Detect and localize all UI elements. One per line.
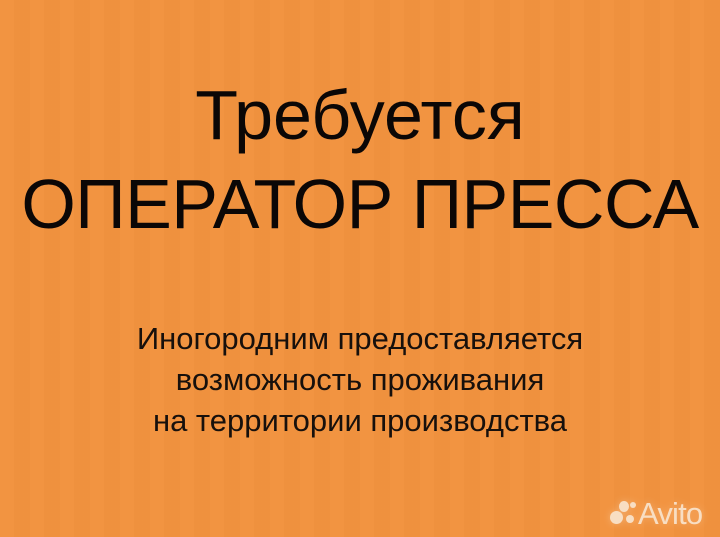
avito-circle-medium xyxy=(619,501,629,512)
avito-wordmark: Avito xyxy=(638,498,702,529)
subtitle-line-1: Иногородним предоставляется xyxy=(0,318,720,359)
avito-circles-icon xyxy=(610,500,636,526)
avito-circle-small-bottom xyxy=(626,515,634,523)
headline-line-1: Требуется xyxy=(0,80,720,150)
subtitle-line-3: на территории производства xyxy=(0,400,720,441)
advertisement-image: Требуется ОПЕРАТОР ПРЕССА Иногородним пр… xyxy=(0,0,720,537)
headline-line-2: ОПЕРАТОР ПРЕССА xyxy=(0,169,720,239)
avito-circle-small-top xyxy=(630,502,636,508)
subtitle-block: Иногородним предоставляется возможность … xyxy=(0,318,720,441)
subtitle-line-2: возможность проживания xyxy=(0,359,720,400)
avito-circle-large xyxy=(610,511,623,524)
avito-watermark: Avito xyxy=(610,494,716,532)
